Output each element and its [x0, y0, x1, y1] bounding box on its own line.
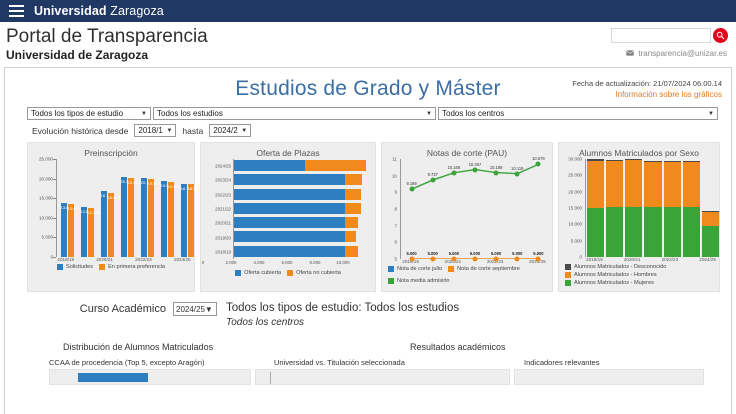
chart-plot: 30.00025.00020.00015.00010.0005.0000 [561, 159, 717, 257]
bar-row[interactable] [234, 203, 361, 214]
selection-line-2: Todos los centros [226, 314, 459, 328]
search-input[interactable] [611, 28, 711, 43]
legend-item[interactable]: Nota de corte julio [388, 266, 442, 272]
legend-swatch [57, 264, 63, 270]
bar-group[interactable]: 13.82113.403 [61, 203, 74, 257]
legend-swatch [235, 270, 241, 276]
bar-value-label: 20.483 [121, 179, 127, 184]
y-tick: 25.000 [39, 157, 53, 162]
bar-value-label: 18.517 [188, 186, 194, 191]
bar-value-label: 18.700 [181, 186, 187, 191]
filter-row: Todos los tipos de estudio ▼ Todos los e… [5, 101, 731, 120]
selection-line-1: Todos los tipos de estudio: Todos los es… [226, 302, 459, 314]
select-centros[interactable]: Todos los centros ▼ [438, 107, 718, 120]
bar-segment[interactable] [345, 189, 361, 200]
bottom-sub-headers: CCAA de procedencia (Top 5, excepto Arag… [5, 352, 731, 367]
bar-value-label: 20.125 [141, 180, 147, 185]
legend-label: Oferta no cubierta [296, 270, 341, 276]
bar-value-label: 20.247 [128, 180, 134, 185]
charts-strip: Preinscripción 25.00020.00015.00010.0005… [5, 137, 731, 292]
charts-info-link[interactable]: Información sobre los gráficos [572, 89, 722, 100]
data-point-label: 9.737 [428, 172, 438, 177]
y-tick: 2024/25 [215, 164, 231, 169]
x-tick: 2024/25 [698, 257, 717, 262]
data-point-label: 10.188 [490, 165, 503, 170]
update-date: Fecha de actualización: 21/07/2024 06.00… [572, 78, 722, 89]
bar-value-label: 19.291 [161, 183, 167, 188]
data-point[interactable] [473, 257, 478, 262]
bar-segment[interactable] [345, 231, 357, 242]
data-point[interactable] [430, 178, 435, 183]
bar-segment[interactable] [587, 161, 604, 208]
bar-value-label: 13.403 [68, 206, 74, 211]
chart-notas-corte: Notas de corte (PAU) 111098765 5.0005.00… [381, 142, 553, 292]
legend-swatch [448, 266, 454, 272]
bar-row[interactable] [234, 174, 362, 185]
data-point[interactable] [430, 257, 435, 262]
bar[interactable]: 12.640 [81, 207, 87, 257]
panel-universidad [255, 369, 510, 385]
data-point[interactable] [515, 171, 520, 176]
select-evolution-from[interactable]: 2018/19 ▼ [134, 124, 176, 137]
bar[interactable]: 16.731 [101, 191, 107, 257]
legend-swatch [388, 278, 394, 284]
x-tick: 2.000 [226, 260, 237, 265]
legend-swatch [565, 272, 571, 278]
x-tick: 0 [202, 260, 204, 265]
bar-segment[interactable] [683, 207, 700, 257]
brand-title[interactable]: Universidad Zaragoza [34, 4, 164, 18]
bar[interactable]: 20.247 [128, 178, 134, 257]
bar[interactable]: 19.105 [168, 182, 174, 257]
legend-label: En primera preferencia [108, 264, 165, 270]
legend-swatch [99, 264, 105, 270]
data-point-label: 10.679 [532, 156, 545, 161]
select-evolution-to[interactable]: 2024/25 ▼ [209, 124, 251, 137]
chart-title: Notas de corte (PAU) [384, 145, 550, 159]
selection-summary: Todos los tipos de estudio: Todos los es… [217, 302, 459, 328]
legend-swatch [287, 270, 293, 276]
bar-group[interactable]: 12.64012.398 [81, 207, 94, 257]
sub-head-indicadores: Indicadores relevantes [524, 358, 599, 367]
brand-light: Zaragoza [110, 4, 164, 18]
stacked-bar[interactable] [702, 211, 719, 257]
legend-item[interactable]: En primera preferencia [99, 264, 165, 270]
legend-label: Alumnos Matriculados - Hombres [574, 272, 657, 278]
chart-plot: 111098765 5.0005.0005.0005.0005.0005.000… [384, 159, 550, 259]
bar-group[interactable]: 18.70018.517 [181, 184, 194, 257]
bar-segment[interactable] [345, 217, 358, 228]
chart-legend: Oferta cubiertaOferta no cubierta [203, 268, 373, 279]
sub-head-ccaa: CCAA de procedencia (Top 5, excepto Arag… [49, 358, 274, 367]
data-point[interactable] [451, 257, 456, 262]
search-icon[interactable] [713, 28, 728, 43]
legend-swatch [388, 266, 394, 272]
contact-email-row[interactable]: transparencia@unizar.es [626, 49, 727, 58]
select-curso-academico-value: 2024/25 [176, 305, 205, 314]
line-series-paths [401, 159, 549, 259]
bar[interactable]: 16.405 [108, 193, 114, 257]
bar-segment[interactable] [234, 231, 345, 242]
x-tick: 6.000 [282, 260, 293, 265]
y-tick: 5.000 [571, 238, 582, 243]
bar[interactable]: 13.821 [61, 203, 67, 257]
data-point[interactable] [494, 170, 499, 175]
chart-matriculados-sexo: Alumnos Matriculados por Sexo 30.00025.0… [558, 142, 720, 292]
evolution-between-label: hasta [182, 126, 203, 136]
bottom-section-headers: Distribución de Alumnos Matriculados Res… [5, 328, 731, 352]
bar-segment[interactable] [345, 174, 363, 185]
page-header: Portal de Transparencia Universidad de Z… [0, 22, 736, 67]
y-tick-mark [53, 257, 56, 258]
y-tick: 9 [394, 190, 397, 195]
bar[interactable]: 19.972 [148, 179, 154, 257]
bar-segment[interactable] [625, 160, 642, 207]
legend-item[interactable]: Alumnos Matriculados - Mujeres [565, 280, 654, 286]
bar[interactable]: 20.483 [121, 177, 127, 257]
bar-segment[interactable] [234, 217, 345, 228]
bottom-head-left: Distribución de Alumnos Matriculados [63, 342, 410, 352]
contact-email-text: transparencia@unizar.es [638, 49, 727, 58]
chart-oferta-plazas: Oferta de Plazas 2024/252023/242022/2320… [200, 142, 376, 292]
plot-area [585, 159, 717, 257]
data-point-label: 10.119 [511, 166, 523, 171]
legend-label: Nota media admisión [397, 278, 450, 284]
bar-segment[interactable] [702, 212, 719, 226]
y-tick: 7 [394, 223, 397, 228]
bar-segment[interactable] [234, 189, 345, 200]
y-axis: 2024/252023/242022/232021/222020/212019/… [203, 159, 233, 259]
top-navbar: Universidad Zaragoza [0, 0, 736, 22]
y-tick: 0 [579, 255, 582, 260]
select-evolution-to-value: 2024/25 [213, 126, 238, 135]
chart-plot: 2024/252023/242022/232021/222020/212019/… [203, 159, 373, 259]
y-tick: 2020/21 [215, 221, 231, 226]
bar-segment[interactable] [606, 161, 623, 208]
bar-segment[interactable] [587, 208, 604, 257]
y-tick: 20.000 [568, 189, 582, 194]
bar-segment[interactable] [234, 203, 345, 214]
y-tick: 11 [392, 157, 397, 162]
brand-bold: Universidad [34, 4, 107, 18]
bar[interactable]: 12.398 [88, 208, 94, 257]
y-tick: 10.000 [568, 222, 582, 227]
bar-segment[interactable] [234, 160, 305, 171]
y-tick: 2022/23 [215, 192, 231, 197]
chevron-down-icon: ▼ [426, 111, 432, 117]
plot-area [233, 159, 373, 259]
bar-segment[interactable] [702, 226, 719, 257]
bottom-head-right: Resultados académicos [410, 342, 506, 352]
data-point[interactable] [494, 257, 499, 262]
data-point-label: 5.000 [406, 251, 416, 256]
bar-value-label: 19.105 [168, 184, 174, 189]
plot-area: 5.0005.0005.0005.0005.0005.0005.0009.189… [400, 159, 550, 259]
legend-label: Oferta cubierta [244, 270, 281, 276]
legend-item[interactable]: Oferta cubierta [235, 270, 281, 276]
x-tick: 2018/19 [585, 257, 604, 262]
chart-legend: Nota de corte julioNota de corte septiem… [384, 264, 550, 287]
bar-value-label: 13.821 [61, 205, 67, 210]
y-tick: 15.000 [568, 206, 582, 211]
bar[interactable]: 13.403 [68, 204, 74, 257]
sub-head-universidad: Universidad vs. Titulación seleccionada [274, 358, 524, 367]
bar-row[interactable] [234, 160, 366, 171]
x-tick [642, 257, 661, 262]
bar-group[interactable]: 16.73116.405 [101, 191, 114, 257]
bar-segment[interactable] [345, 246, 358, 257]
legend-label: Alumnos Matriculados - Desconocido [574, 264, 666, 270]
panel-indicadores [514, 369, 704, 385]
chevron-down-icon: ▼ [141, 111, 147, 117]
bar-segment[interactable] [345, 203, 362, 214]
y-tick: 15.000 [39, 196, 53, 201]
x-tick: · [114, 257, 133, 262]
x-tick: 10.000 [336, 260, 349, 265]
chart-plot: 25.00020.00015.00010.0005.0000 13.82113.… [30, 159, 192, 257]
x-axis: 2018/192020/212022/232024/25 [561, 257, 717, 262]
stacked-bar[interactable] [606, 160, 623, 257]
stacked-bar[interactable] [587, 159, 604, 257]
y-tick: 30.000 [568, 157, 582, 162]
legend-item[interactable]: Alumnos Matriculados - Hombres [565, 272, 657, 278]
legend-item[interactable]: Alumnos Matriculados - Desconocido [565, 264, 666, 270]
bar-group[interactable]: 20.48320.247 [121, 177, 134, 257]
y-tick: 2018/19 [215, 249, 231, 254]
data-point-label: 5.000 [512, 251, 522, 256]
data-point[interactable] [451, 170, 456, 175]
x-tick: 2018/19 [56, 257, 75, 262]
envelope-icon [626, 49, 634, 58]
plot-area: 13.82113.40312.64012.39816.73116.40520.4… [56, 159, 192, 257]
bar-row[interactable] [234, 231, 356, 242]
legend-swatch [565, 264, 571, 270]
bar-segment[interactable] [234, 246, 345, 257]
bar-segment[interactable] [664, 207, 681, 257]
select-tipo-estudio[interactable]: Todos los tipos de estudio ▼ [27, 107, 151, 120]
bar-segment[interactable] [305, 160, 365, 171]
data-point[interactable] [409, 257, 414, 262]
x-tick: 4.000 [254, 260, 265, 265]
curso-academico-label: Curso Académico [5, 302, 173, 315]
x-tick: · [153, 257, 172, 262]
y-tick: 10 [392, 173, 397, 178]
bar-row[interactable] [234, 246, 358, 257]
data-point-label: 9.189 [406, 181, 416, 186]
panel-ccaa [49, 369, 251, 385]
y-tick: 25.000 [568, 173, 582, 178]
chevron-down-icon: ▼ [166, 128, 172, 134]
data-point[interactable] [515, 257, 520, 262]
x-axis: 02.0004.0006.0008.00010.000 [203, 259, 373, 268]
y-tick: 20.000 [39, 176, 53, 181]
bar-segment[interactable] [664, 162, 681, 207]
chevron-down-icon: ▼ [205, 305, 213, 314]
x-tick [679, 257, 698, 262]
y-tick: 2019/20 [215, 235, 231, 240]
select-estudios-value: Todos los estudios [157, 109, 423, 118]
y-axis: 111098765 [384, 159, 400, 259]
y-tick: 6 [394, 240, 397, 245]
data-point-label: 5.000 [533, 251, 543, 256]
bar[interactable]: 19.291 [161, 181, 167, 257]
bar-segment[interactable] [234, 174, 345, 185]
chart-legend: SolicitudesEn primera preferencia [30, 262, 192, 273]
bar-segment[interactable] [625, 207, 642, 257]
data-point-label: 10.168 [448, 165, 461, 170]
legend-item[interactable]: Oferta no cubierta [287, 270, 341, 276]
search-area [611, 28, 728, 43]
ccaa-bar [78, 373, 148, 382]
chevron-down-icon: ▼ [241, 128, 247, 134]
evolution-label: Evolución histórica desde [32, 126, 128, 136]
legend-label: Nota de corte julio [397, 266, 442, 272]
y-axis: 25.00020.00015.00010.0005.0000 [30, 159, 56, 257]
chart-title: Alumnos Matriculados por Sexo [561, 145, 717, 159]
y-tick: 10.000 [39, 215, 53, 220]
data-point[interactable] [473, 167, 478, 172]
y-tick: 5 [394, 257, 397, 262]
x-tick: 2024/25 [173, 257, 192, 262]
x-tick: 2022/23 [134, 257, 153, 262]
bar-value-label: 19.972 [148, 181, 154, 186]
stacked-bar[interactable] [625, 159, 642, 257]
bottom-panels [5, 367, 731, 385]
select-centros-value: Todos los centros [442, 109, 705, 118]
legend-item[interactable]: Nota de corte septiembre [448, 266, 520, 272]
y-tick: 2021/22 [215, 207, 231, 212]
x-tick: 2020/21 [95, 257, 114, 262]
legend-label: Nota de corte septiembre [457, 266, 520, 272]
data-point-label: 5.000 [491, 251, 501, 256]
bar-segment[interactable] [606, 207, 623, 257]
bar-row[interactable] [234, 189, 361, 200]
chart-preinscripcion: Preinscripción 25.00020.00015.00010.0005… [27, 142, 195, 292]
stacked-bar[interactable] [664, 161, 681, 257]
bar-value-label: 16.731 [101, 193, 107, 198]
data-point[interactable] [536, 162, 541, 167]
axis-line [270, 372, 509, 384]
legend-swatch [565, 280, 571, 286]
chart-title: Preinscripción [30, 145, 192, 159]
bar[interactable]: 18.517 [188, 184, 194, 257]
y-axis: 30.00025.00020.00015.00010.0005.0000 [561, 159, 585, 257]
y-tick: 8 [394, 207, 397, 212]
bar-group[interactable]: 20.12519.972 [141, 178, 154, 257]
data-point-label: 10.367 [469, 162, 482, 167]
hamburger-icon[interactable] [9, 5, 24, 17]
bar-group[interactable]: 19.29119.105 [161, 181, 174, 257]
y-tick: 5.000 [42, 235, 54, 240]
evolution-row: Evolución histórica desde 2018/19 ▼ hast… [5, 120, 731, 137]
bar-segment[interactable] [683, 162, 700, 207]
bar-segment[interactable] [644, 207, 661, 257]
curso-academico-row: Curso Académico 2024/25 ▼ Todos los tipo… [5, 292, 731, 328]
data-point-label: 5.000 [428, 251, 438, 256]
y-tick: 2023/24 [215, 178, 231, 183]
x-tick: · [75, 257, 94, 262]
x-tick: 2022/23 [660, 257, 679, 262]
legend-label: Solicitudes [66, 264, 93, 270]
bar-segment[interactable] [644, 162, 661, 207]
select-curso-academico[interactable]: 2024/25 ▼ [173, 302, 217, 316]
x-tick: 8.000 [310, 260, 321, 265]
bar[interactable]: 18.700 [181, 184, 187, 257]
chart-title: Oferta de Plazas [203, 145, 373, 159]
dashboard-meta: Fecha de actualización: 21/07/2024 06.00… [572, 78, 722, 100]
chevron-down-icon: ▼ [708, 111, 714, 117]
data-point-label: 5.000 [470, 251, 480, 256]
dashboard-panel: Estudios de Grado y Máster Fecha de actu… [4, 67, 732, 414]
x-tick [604, 257, 623, 262]
chart-legend: Alumnos Matriculados - DesconocidoAlumno… [561, 262, 717, 289]
stacked-bar[interactable] [644, 161, 661, 257]
select-evolution-from-value: 2018/19 [138, 126, 163, 135]
x-tick: 2020/21 [623, 257, 642, 262]
data-point-label: 5.000 [449, 251, 459, 256]
stacked-bar[interactable] [683, 161, 700, 257]
select-tipo-estudio-value: Todos los tipos de estudio [31, 109, 138, 118]
bar[interactable]: 20.125 [141, 178, 147, 257]
legend-item[interactable]: Solicitudes [57, 264, 93, 270]
bar-value-label: 12.398 [88, 210, 94, 215]
bar-value-label: 12.640 [81, 209, 87, 214]
legend-item[interactable]: Nota media admisión [388, 278, 450, 284]
bar-value-label: 16.405 [108, 195, 114, 200]
data-point[interactable] [536, 257, 541, 262]
data-point[interactable] [409, 187, 414, 192]
bar-row[interactable] [234, 217, 358, 228]
select-estudios[interactable]: Todos los estudios ▼ [153, 107, 436, 120]
legend-label: Alumnos Matriculados - Mujeres [574, 280, 654, 286]
